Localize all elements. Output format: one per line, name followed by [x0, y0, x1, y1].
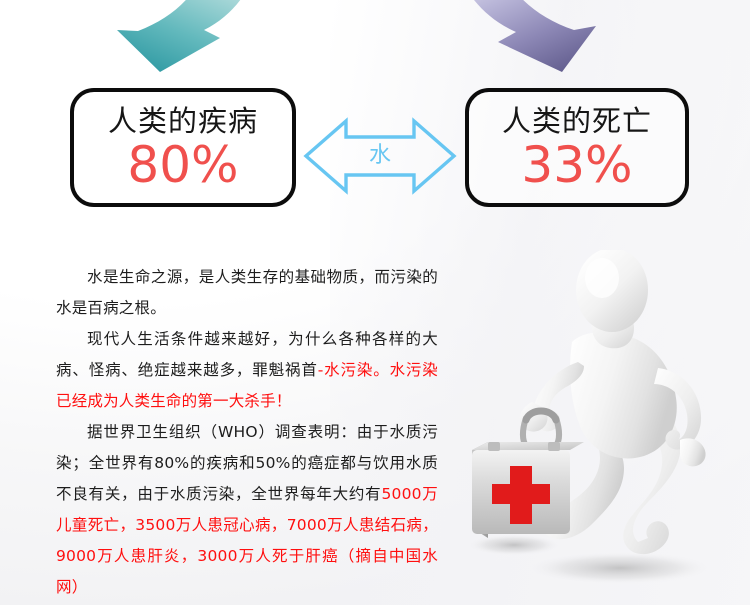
stat-box-death: 人类的死亡 33%: [465, 88, 689, 207]
stat-title-death: 人类的死亡: [502, 107, 652, 136]
stat-box-disease: 人类的疾病 80%: [70, 88, 296, 207]
bag-clasp-right: [548, 442, 560, 451]
figure-head-highlight: [585, 258, 619, 298]
teal-down-arrow-icon: [100, 0, 260, 72]
bag-ground-shadow: [466, 534, 562, 556]
figure-torso: [570, 332, 677, 458]
water-connector-label: 水: [302, 117, 458, 195]
purple-down-arrow-icon: [462, 0, 612, 72]
bag-clasp-left: [488, 442, 500, 451]
paragraph-2: 现代人生活条件越来越好，为什么各种各样的大病、怪病、绝症越来越多，罪魁祸首-水污…: [56, 324, 438, 417]
figure-ground-shadow: [524, 551, 716, 585]
poster-canvas: 人类的疾病 80% 人类的死亡 33% 水 水是生命之源，是人类生存的基础物质，…: [0, 0, 750, 605]
3d-figure-with-medical-bag: [452, 250, 750, 605]
body-copy: 水是生命之源，是人类生存的基础物质，而污染的水是百病之根。 现代人生活条件越来越…: [56, 262, 438, 603]
figure-right-hand: [680, 438, 706, 466]
stat-value-disease: 80%: [127, 140, 238, 190]
stat-value-death: 33%: [521, 140, 632, 190]
paragraph-3: 据世界卫生组织（WHO）调查表明：由于水质污染；全世界有80%的疾病和50%的癌…: [56, 417, 438, 603]
stat-title-disease: 人类的疾病: [108, 107, 258, 136]
paragraph-1: 水是生命之源，是人类生存的基础物质，而污染的水是百病之根。: [56, 262, 438, 324]
